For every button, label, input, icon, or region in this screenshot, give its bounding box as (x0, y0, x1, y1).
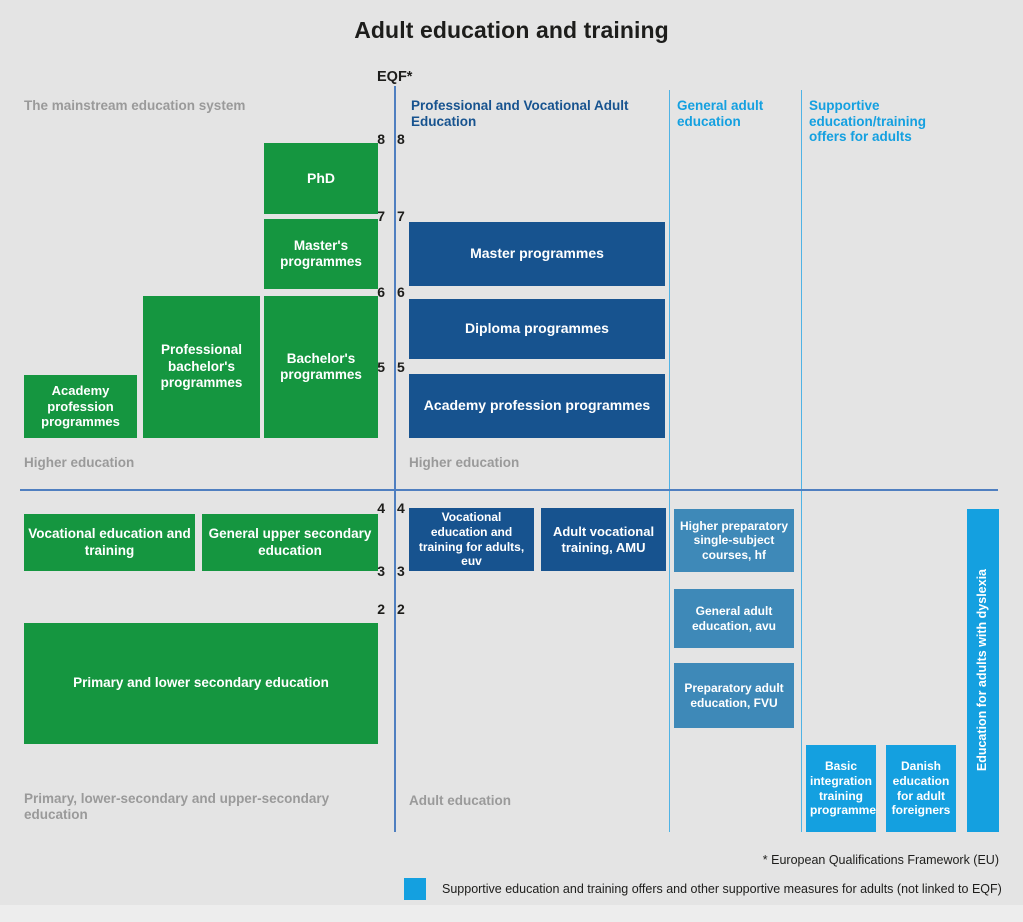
box-general-upper-secondary-label: General upper secondary education (206, 526, 374, 559)
column-header-professional: Professional and Vocational Adult Educat… (411, 98, 661, 129)
divider-higher-education (20, 489, 998, 491)
eqf-footnote: * European Qualifications Framework (EU) (763, 853, 999, 867)
eqf-tick-right-8: 8 (397, 131, 415, 147)
axis-line-eqf (394, 86, 396, 832)
legend-swatch-supportive (404, 878, 426, 900)
box-vocational-adults-euv-label: Vocational education and training for ad… (413, 510, 530, 569)
eqf-tick-right-5: 5 (397, 359, 415, 375)
zone-label-higher-education-right: Higher education (409, 455, 659, 471)
zone-label-adult-education: Adult education (409, 793, 649, 809)
box-professional-bachelors-label: Professional bachelor's programmes (147, 342, 256, 391)
box-academy-profession-adult[interactable]: Academy profession programmes (409, 374, 665, 438)
separator-supportive (801, 90, 802, 832)
box-dyslexia[interactable]: Education for adults with dyslexia (967, 509, 999, 832)
box-vocational-education-training[interactable]: Vocational education and training (24, 514, 195, 571)
box-basic-integration[interactable]: Basic integration training programme (806, 745, 876, 832)
box-dyslexia-label: Education for adults with dyslexia (975, 569, 990, 771)
box-bachelors-programmes-label: Bachelor's programmes (268, 351, 374, 384)
box-danish-for-foreigners-label: Danish education for adult foreigners (890, 759, 952, 818)
box-bachelors-programmes[interactable]: Bachelor's programmes (264, 296, 378, 438)
box-danish-for-foreigners[interactable]: Danish education for adult foreigners (886, 745, 956, 832)
box-master-programmes-adult[interactable]: Master programmes (409, 222, 665, 286)
box-academy-profession-label: Academy profession programmes (28, 383, 133, 431)
box-preparatory-adult-fvu[interactable]: Preparatory adult education, FVU (674, 663, 794, 728)
eqf-axis-label: EQF* (377, 69, 412, 85)
page-title: Adult education and training (0, 17, 1023, 44)
zone-label-higher-education-left: Higher education (24, 455, 344, 471)
box-primary-lower-secondary-label: Primary and lower secondary education (28, 675, 374, 691)
box-adult-vocational-amu[interactable]: Adult vocational training, AMU (541, 508, 666, 571)
box-diploma-programmes[interactable]: Diploma programmes (409, 299, 665, 359)
box-masters-programmes-label: Master's programmes (268, 238, 374, 271)
box-general-adult-avu-label: General adult education, avu (678, 604, 790, 633)
box-academy-profession[interactable]: Academy profession programmes (24, 375, 137, 438)
box-basic-integration-label: Basic integration training programme (810, 759, 872, 818)
box-primary-lower-secondary[interactable]: Primary and lower secondary education (24, 623, 378, 744)
eqf-tick-right-2: 2 (397, 601, 415, 617)
eqf-tick-left-2: 2 (367, 601, 385, 617)
column-header-general: General adult education (677, 98, 797, 129)
box-general-adult-avu[interactable]: General adult education, avu (674, 589, 794, 648)
column-header-mainstream: The mainstream education system (24, 98, 364, 114)
box-higher-preparatory-hf-label: Higher preparatory single-subject course… (678, 519, 790, 563)
zone-label-primary-left: Primary, lower-secondary and upper-secon… (24, 791, 369, 823)
column-header-supportive: Supportive education/training offers for… (809, 98, 944, 145)
legend-label-supportive: Supportive education and training offers… (442, 882, 1002, 896)
box-diploma-programmes-label: Diploma programmes (413, 320, 661, 337)
legend: Supportive education and training offers… (404, 878, 1002, 900)
separator-general (669, 90, 670, 832)
box-master-programmes-adult-label: Master programmes (413, 245, 661, 262)
box-phd-label: PhD (268, 170, 374, 187)
box-adult-vocational-amu-label: Adult vocational training, AMU (545, 524, 662, 556)
box-academy-profession-adult-label: Academy profession programmes (413, 397, 661, 414)
box-vocational-education-training-label: Vocational education and training (28, 526, 191, 559)
eqf-tick-right-6: 6 (397, 284, 415, 300)
box-vocational-adults-euv[interactable]: Vocational education and training for ad… (409, 508, 534, 571)
box-higher-preparatory-hf[interactable]: Higher preparatory single-subject course… (674, 509, 794, 572)
box-phd[interactable]: PhD (264, 143, 378, 214)
box-preparatory-adult-fvu-label: Preparatory adult education, FVU (678, 681, 790, 710)
box-general-upper-secondary[interactable]: General upper secondary education (202, 514, 378, 571)
diagram-canvas: Adult education and training The mainstr… (0, 0, 1023, 922)
bottom-bar (0, 905, 1023, 922)
box-masters-programmes[interactable]: Master's programmes (264, 219, 378, 289)
box-professional-bachelors[interactable]: Professional bachelor's programmes (143, 296, 260, 438)
